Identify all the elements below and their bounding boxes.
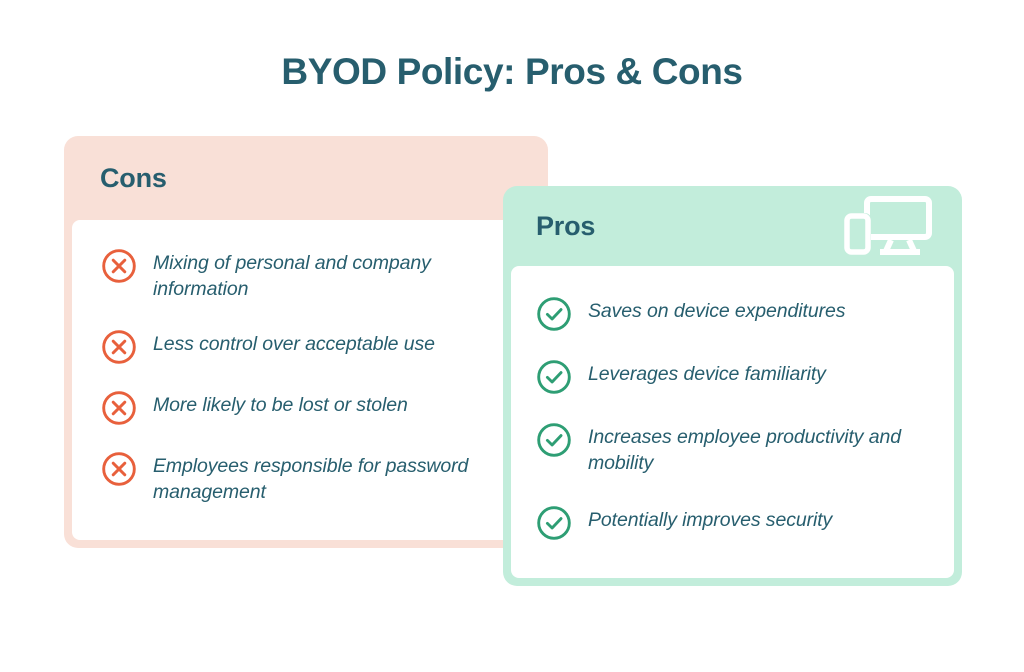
x-circle-icon (102, 391, 136, 425)
check-circle-icon (537, 360, 571, 394)
list-item: More likely to be lost or stolen (102, 390, 516, 425)
list-item: Potentially improves security (537, 505, 932, 540)
list-item-label: Leverages device familiarity (588, 359, 826, 388)
pros-list: Saves on device expenditures Leverages d… (511, 296, 954, 568)
list-item-label: Employees responsible for password manag… (153, 451, 516, 506)
x-circle-icon (102, 452, 136, 486)
list-item: Saves on device expenditures (537, 296, 932, 331)
pros-card-header: Pros (503, 186, 962, 266)
devices-monitor-phone-icon (844, 195, 932, 257)
list-item-label: Saves on device expenditures (588, 296, 845, 325)
cons-card-body: Mixing of personal and company informati… (72, 220, 540, 540)
list-item: Employees responsible for password manag… (102, 451, 516, 506)
list-item: Less control over acceptable use (102, 329, 516, 364)
list-item-label: Less control over acceptable use (153, 329, 435, 358)
check-circle-icon (537, 297, 571, 331)
list-item-label: Mixing of personal and company informati… (153, 248, 516, 303)
cons-card: Cons Mixing of personal and company info… (64, 136, 548, 548)
check-circle-icon (537, 506, 571, 540)
cons-list: Mixing of personal and company informati… (72, 248, 540, 532)
x-circle-icon (102, 249, 136, 283)
list-item: Leverages device familiarity (537, 359, 932, 394)
list-item: Mixing of personal and company informati… (102, 248, 516, 303)
list-item-label: Increases employee productivity and mobi… (588, 422, 932, 477)
page-title: BYOD Policy: Pros & Cons (0, 52, 1024, 93)
x-circle-icon (102, 330, 136, 364)
list-item: Increases employee productivity and mobi… (537, 422, 932, 477)
check-circle-icon (537, 423, 571, 457)
list-item-label: More likely to be lost or stolen (153, 390, 408, 419)
pros-card-body: Saves on device expenditures Leverages d… (511, 266, 954, 578)
infographic-canvas: BYOD Policy: Pros & Cons Cons Mixing of … (0, 0, 1024, 672)
cons-card-heading: Cons (100, 163, 167, 194)
pros-card: Pros (503, 186, 962, 586)
cons-card-header: Cons (64, 136, 548, 220)
pros-card-heading: Pros (536, 211, 595, 242)
list-item-label: Potentially improves security (588, 505, 832, 534)
